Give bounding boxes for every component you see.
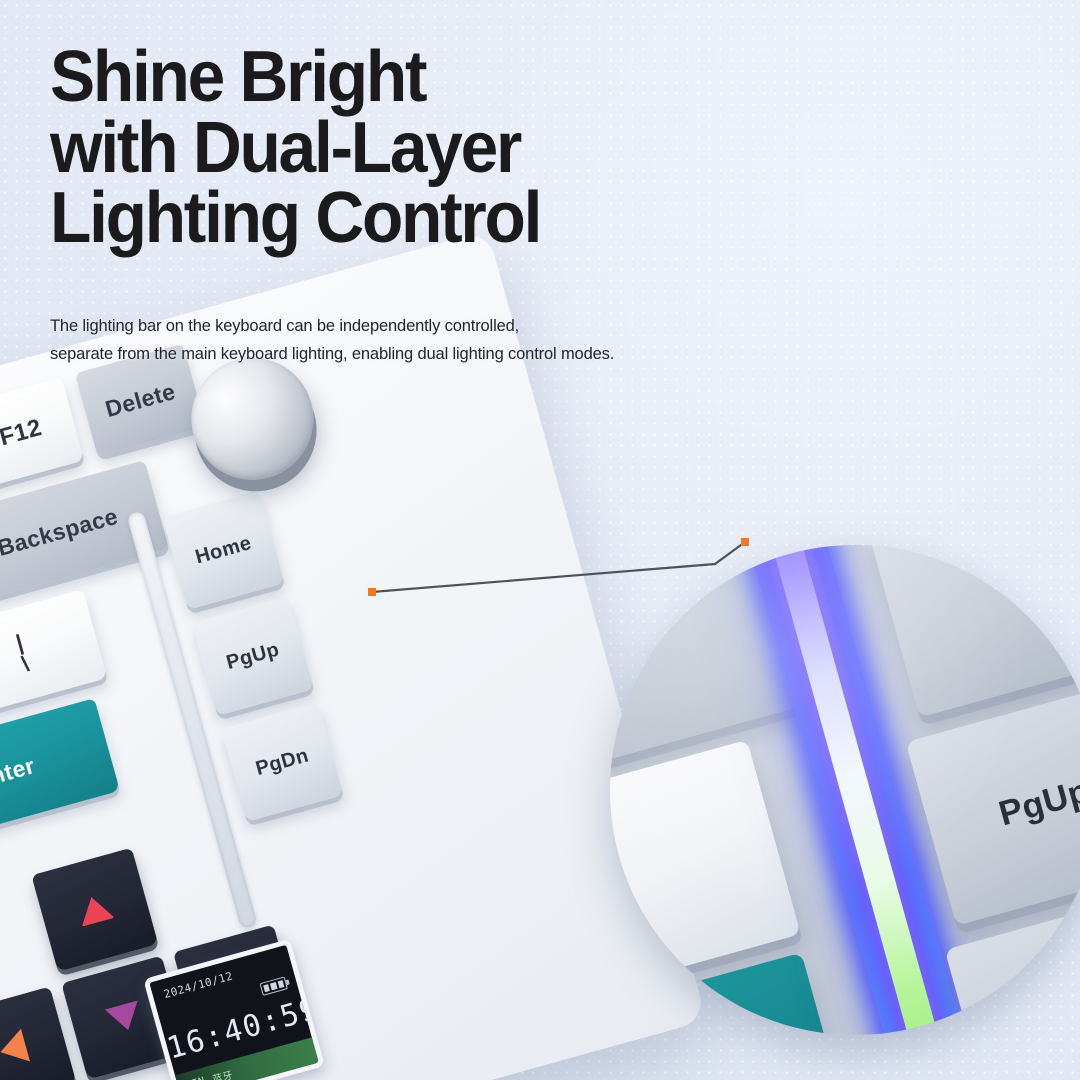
arrow-up-icon [75, 893, 115, 927]
arrow-left-icon [0, 1029, 30, 1069]
zoom-key-home: Home [869, 545, 1080, 717]
lcd-status-right: 蓝牙 [210, 1066, 234, 1080]
page-subtitle: The lighting bar on the keyboard can be … [50, 312, 790, 369]
page-title: Shine Bright with Dual-Layer Lighting Co… [50, 42, 764, 254]
lcd-status-left: WIN [185, 1075, 207, 1080]
poster-canvas: F11 F12 Delete + = ← Backspace } ] | \ ←… [0, 0, 1080, 1080]
magnified-detail-circle: Backspace | \ Enter Home PgUp PgDn [610, 545, 1080, 1035]
magnified-scene: Backspace | \ Enter Home PgUp PgDn [610, 545, 1080, 1035]
lcd-date: 2024/10/12 [162, 969, 234, 1001]
arrow-down-icon [105, 1001, 145, 1035]
battery-icon [259, 976, 288, 995]
zoom-key-pgup: PgUp [906, 679, 1080, 925]
